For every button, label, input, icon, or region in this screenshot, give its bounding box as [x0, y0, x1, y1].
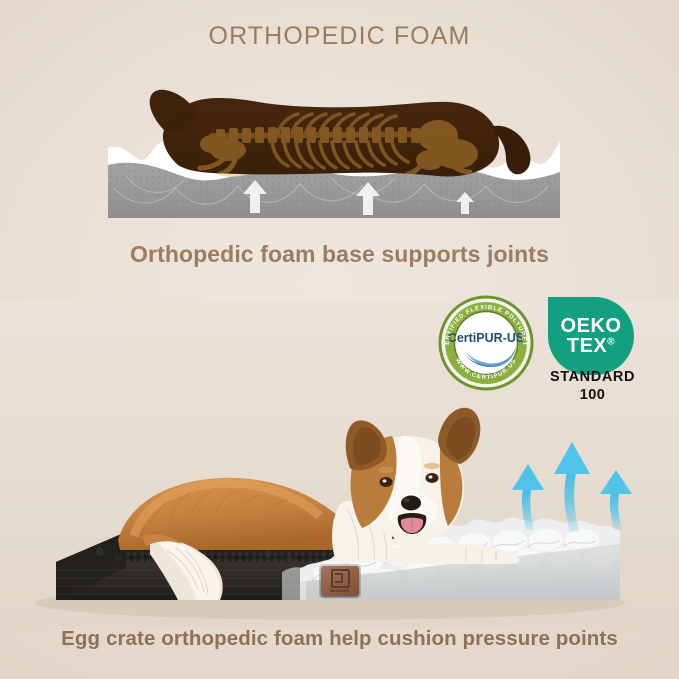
registered-mark: ®	[607, 336, 615, 347]
airflow-arrow-1	[512, 464, 544, 530]
badge-oeko-tex[interactable]: OEKO TEX®	[548, 297, 634, 375]
brand-logo-patch: BEDSURE	[321, 566, 359, 596]
brand-spiral-icon	[331, 569, 350, 588]
airflow-arrow-3	[600, 470, 632, 530]
caption-orthopedic-support: Orthopedic foam base supports joints	[0, 241, 679, 268]
cross-section-svg	[108, 72, 560, 227]
caption-egg-crate: Egg crate orthopedic foam help cushion p…	[0, 627, 679, 651]
foam-cross-section-illustration	[108, 72, 560, 227]
brand-wordmark: BEDSURE	[331, 589, 350, 593]
oeko-standard-line1: STANDARD	[520, 368, 665, 386]
airflow-arrows	[498, 398, 648, 533]
page-title: ORTHOPEDIC FOAM	[0, 22, 679, 51]
oeko-line2: TEX®	[567, 336, 615, 356]
oeko-tex-mark: OEKO TEX®	[548, 297, 634, 375]
infographic-root: ORTHOPEDIC FOAM	[0, 0, 679, 679]
dog-nose	[401, 496, 421, 511]
airflow-arrow-2	[554, 442, 590, 532]
certipur-wordmark: CertiPUR-US	[448, 331, 524, 345]
airflow-svg	[498, 398, 648, 533]
oeko-line1: OEKO	[561, 316, 622, 336]
